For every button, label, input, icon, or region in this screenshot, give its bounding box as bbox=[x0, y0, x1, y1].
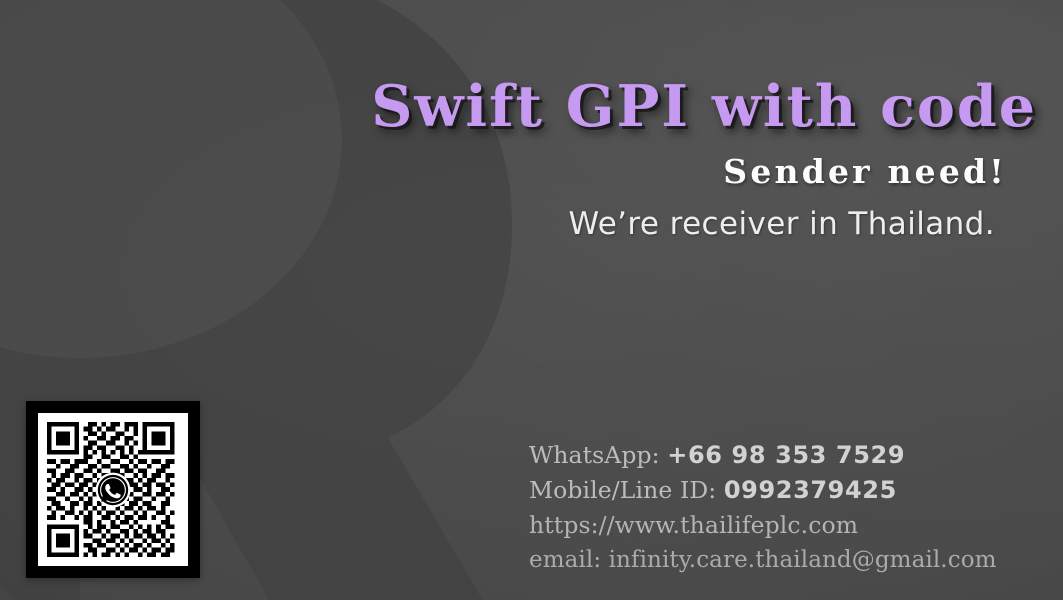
subtitle: Sender need! bbox=[0, 152, 1007, 191]
business-card: Swift GPI with code Sender need! We’re r… bbox=[0, 0, 1063, 600]
whatsapp-icon bbox=[95, 472, 131, 508]
whatsapp-number[interactable]: +66 98 353 7529 bbox=[667, 441, 905, 469]
email-address[interactable]: email: infinity.care.thailand@gmail.com bbox=[529, 543, 999, 578]
qr-code-frame[interactable] bbox=[26, 401, 200, 578]
whatsapp-label: WhatsApp: bbox=[529, 441, 660, 469]
page-title: Swift GPI with code bbox=[0, 78, 1037, 136]
mobile-number[interactable]: 0992379425 bbox=[724, 476, 897, 504]
whatsapp-line: WhatsApp: +66 98 353 7529 bbox=[529, 438, 999, 473]
mobile-label: Mobile/Line ID: bbox=[529, 476, 716, 504]
tagline: We’re receiver in Thailand. bbox=[0, 206, 995, 242]
contact-details: WhatsApp: +66 98 353 7529 Mobile/Line ID… bbox=[529, 438, 999, 578]
website-link[interactable]: https://www.thailifeplc.com bbox=[529, 508, 999, 543]
mobile-line: Mobile/Line ID: 0992379425 bbox=[529, 473, 999, 508]
qr-code[interactable] bbox=[38, 413, 188, 566]
